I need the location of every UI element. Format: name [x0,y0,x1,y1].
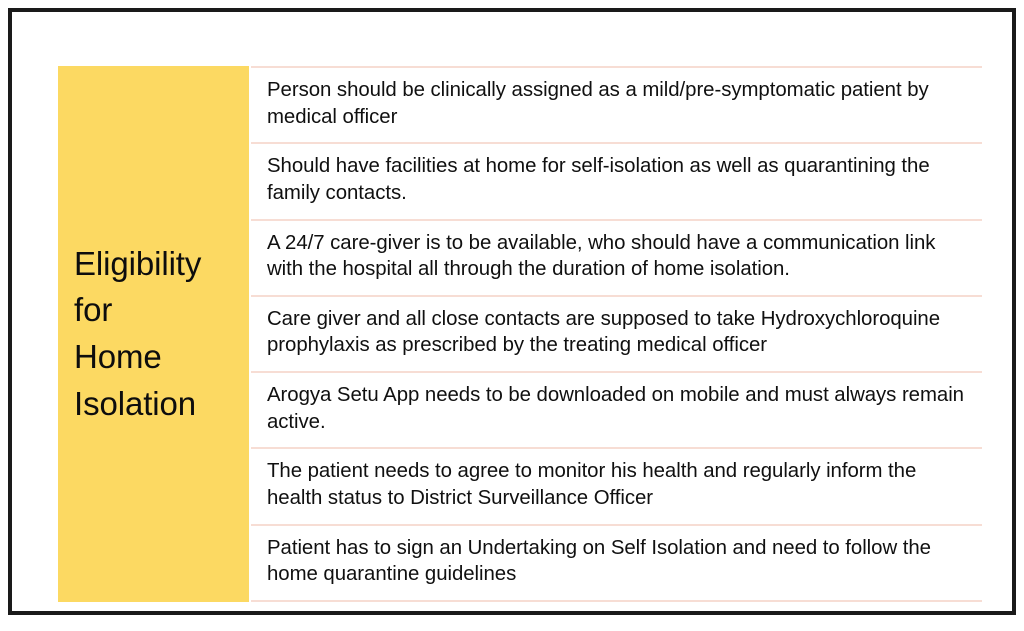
table-row: Patient has to sign an Undertaking on Se… [251,526,982,602]
table-row: Care giver and all close contacts are su… [251,297,982,373]
guideline-text: A 24/7 care-giver is to be available, wh… [267,230,964,283]
category-header-cell: Eligibility for Home Isolation [58,66,249,602]
slide-frame: Eligibility for Home Isolation Person sh… [8,8,1016,615]
guideline-text: Patient has to sign an Undertaking on Se… [267,535,964,588]
table-row: A 24/7 care-giver is to be available, wh… [251,221,982,297]
table-row: Should have facilities at home for self-… [251,144,982,220]
guidelines-list: Person should be clinically assigned as … [251,66,982,602]
category-title: Eligibility for Home Isolation [74,241,201,427]
table-row: Person should be clinically assigned as … [251,68,982,144]
eligibility-table: Eligibility for Home Isolation Person sh… [58,66,982,602]
table-row: The patient needs to agree to monitor hi… [251,449,982,525]
table-row: Arogya Setu App needs to be downloaded o… [251,373,982,449]
guideline-text: Should have facilities at home for self-… [267,153,964,206]
guideline-text: Arogya Setu App needs to be downloaded o… [267,382,964,435]
guideline-text: Person should be clinically assigned as … [267,77,964,130]
guideline-text: Care giver and all close contacts are su… [267,306,964,359]
guideline-text: The patient needs to agree to monitor hi… [267,458,964,511]
